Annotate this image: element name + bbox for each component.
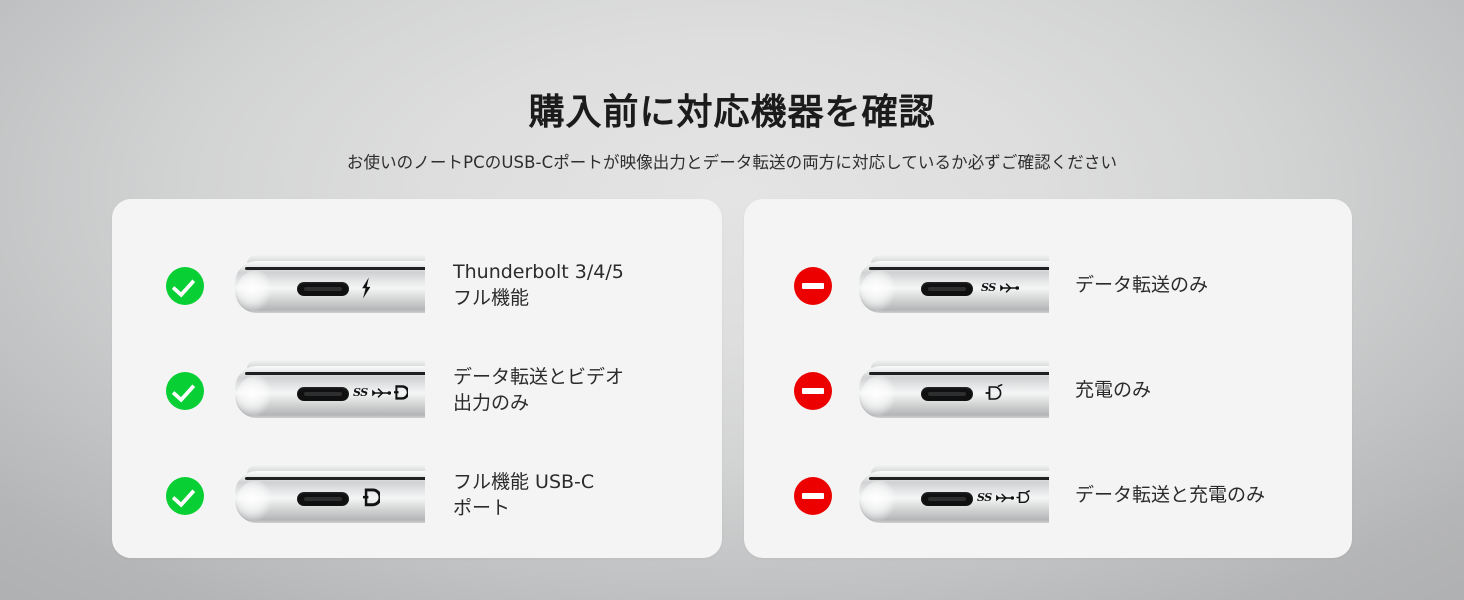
laptop-highlight [861,376,895,416]
list-item: SS [112,338,722,443]
check-circle-icon [166,372,204,410]
laptop-edge-illustration [235,465,425,527]
superspeed-label: SS [981,282,996,293]
laptop-highlight [237,271,271,311]
laptop-highlight [861,271,895,311]
list-item: 充電のみ [744,338,1352,443]
list-item-label: データ転送と充電のみ [1075,483,1265,508]
laptop-seam [869,477,1049,480]
charging-plug-icon [985,384,1005,402]
laptop-highlight [237,376,271,416]
comparison-panels: Thunderbolt 3/4/5 フル機能 SS [112,199,1352,558]
port-symbol-group: SS [977,487,1032,509]
minus-circle-icon [794,267,832,305]
list-item: フル機能 USB-C ポート [112,443,722,548]
laptop-seam [245,372,425,375]
list-item: SS [744,443,1352,548]
supported-panel: Thunderbolt 3/4/5 フル機能 SS [112,199,722,558]
laptop-edge-illustration: SS [859,465,1049,527]
usb-c-port-icon [297,492,349,506]
laptop-seam [869,267,1049,270]
minus-circle-icon [794,477,832,515]
minus-circle-icon [794,372,832,410]
laptop-highlight [237,481,271,521]
superspeed-label: SS [353,387,368,398]
thunderbolt-icon [359,277,374,299]
laptop-seam [245,267,425,270]
laptop-seam [245,477,425,480]
superspeed-usb-icon [370,386,391,400]
usb-c-port-icon [297,387,349,401]
superspeed-usb-icon [994,491,1014,505]
laptop-edge-illustration [235,255,425,317]
list-item-label: データ転送とビデオ 出力のみ [453,365,624,415]
list-item: SS [744,233,1352,338]
usb-c-port-icon [921,282,973,296]
laptop-highlight [861,481,895,521]
port-symbol-group: SS [981,277,1019,299]
usb-c-port-icon [921,387,973,401]
infographic-root: 購入前に対応機器を確認 お使いのノートPCのUSB-Cポートが映像出力とデータ転… [0,0,1464,600]
displayport-icon [363,487,380,508]
usb-c-port-icon [921,492,973,506]
laptop-seam [869,372,1049,375]
port-symbol-group [359,277,374,299]
list-item-label: 充電のみ [1075,378,1151,403]
port-symbol-group [363,487,380,509]
supported-rows: Thunderbolt 3/4/5 フル機能 SS [112,233,722,548]
laptop-edge-illustration: SS [859,255,1049,317]
unsupported-rows: SS [744,233,1352,548]
list-item-label: データ転送のみ [1075,273,1208,298]
list-item-label: Thunderbolt 3/4/5 フル機能 [453,260,624,310]
page-title: 購入前に対応機器を確認 [0,92,1464,133]
displayport-icon [394,384,408,401]
header: 購入前に対応機器を確認 お使いのノートPCのUSB-Cポートが映像出力とデータ転… [0,92,1464,173]
page-subtitle: お使いのノートPCのUSB-Cポートが映像出力とデータ転送の両方に対応しているか… [0,149,1464,173]
check-circle-icon [166,267,204,305]
laptop-edge-illustration [859,360,1049,422]
port-symbol-group: SS [353,382,408,404]
check-circle-icon [166,477,204,515]
superspeed-usb-icon [998,281,1019,295]
superspeed-label: SS [977,492,992,503]
charging-plug-icon [1016,490,1032,505]
usb-c-port-icon [297,282,349,296]
list-item-label: フル機能 USB-C ポート [453,470,594,520]
port-symbol-group [985,382,1005,404]
laptop-edge-illustration: SS [235,360,425,422]
list-item: Thunderbolt 3/4/5 フル機能 [112,233,722,338]
unsupported-panel: SS [744,199,1352,558]
